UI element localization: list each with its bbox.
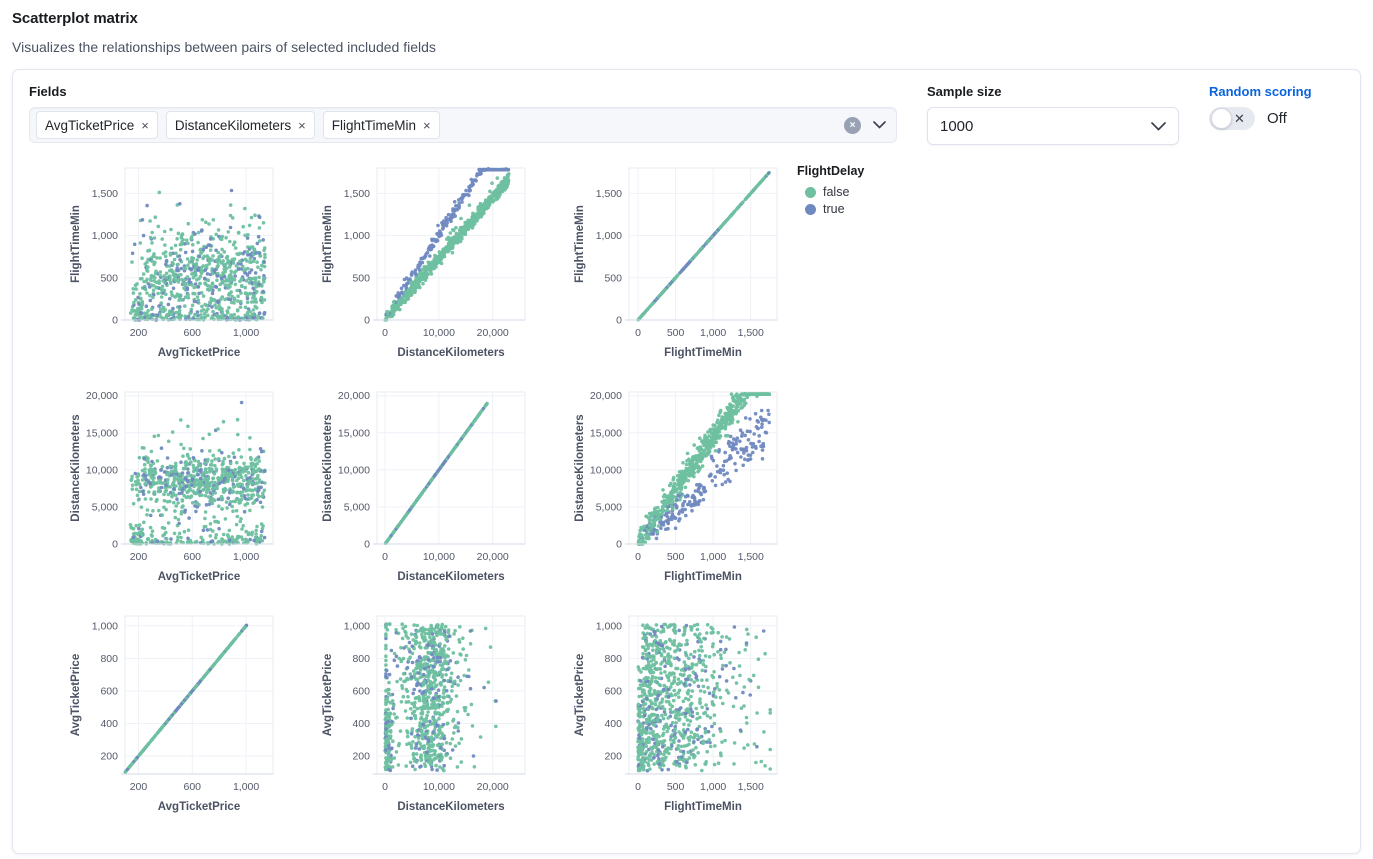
data-point [640,533,644,537]
data-point [427,266,431,270]
data-point [236,491,240,495]
data-point [137,498,141,502]
data-point [241,524,245,528]
data-point [255,306,259,310]
data-point [241,252,245,256]
data-point [761,444,765,448]
data-point [150,231,154,235]
data-point [186,275,190,279]
data-point [222,490,226,494]
data-point [141,218,145,222]
data-point [161,534,165,538]
clear-all-fields-icon[interactable]: × [844,117,861,134]
data-point [678,517,682,521]
data-point [154,215,158,219]
data-point [256,265,260,269]
data-point [732,443,736,447]
data-point [136,494,140,498]
data-point [712,444,716,448]
remove-field-icon[interactable]: × [141,119,149,132]
data-point [221,462,225,466]
data-point [135,488,139,492]
data-point [242,479,246,483]
data-point [454,226,458,230]
data-point [684,486,688,490]
data-point [436,239,440,243]
data-point [213,499,217,503]
data-point [203,517,207,521]
data-point [464,189,468,193]
data-point [189,460,193,464]
data-point [654,299,657,302]
data-point [403,278,407,282]
data-point [152,252,156,256]
data-point [197,460,201,464]
data-point [719,409,723,413]
data-point [758,182,761,185]
data-point [690,258,693,261]
data-point [698,250,701,253]
data-point [175,237,179,241]
data-point [252,294,256,298]
data-point [165,276,169,280]
data-point [254,487,258,491]
data-point [191,250,195,254]
data-point [134,472,138,476]
data-point [168,465,172,469]
data-point [198,481,202,485]
data-point [766,409,770,413]
data-point [205,503,209,507]
data-point [402,295,406,299]
data-point [149,464,153,468]
data-point [690,509,694,513]
data-point [767,392,771,396]
data-point [200,449,204,453]
x-tick-label: 20,000 [477,551,509,563]
data-point [248,509,252,513]
data-point [663,503,667,507]
x-tick-label: 20,000 [477,327,509,339]
data-point [149,514,153,518]
data-point [140,505,144,509]
data-point [387,538,390,541]
field-pill[interactable]: AvgTicketPrice × [36,111,158,139]
data-point [734,469,738,473]
data-point [140,301,144,305]
data-point [202,248,206,252]
data-point [251,287,255,291]
chevron-down-icon[interactable] [873,121,886,129]
data-point [226,316,230,320]
plot-frame [377,392,525,544]
data-point [714,449,718,453]
fields-combobox[interactable]: AvgTicketPrice × DistanceKilometers × Fl… [29,107,897,143]
remove-field-icon[interactable]: × [423,119,431,132]
data-point [195,258,199,262]
data-point [263,256,267,260]
scatter-cell-r2c2[interactable]: 05,00010,00015,00020,000010,00020,000Dis… [281,382,533,606]
data-point [255,498,259,502]
scatter-cell-r1c1[interactable]: 05001,0001,5002006001,000AvgTicketPriceF… [29,158,281,382]
data-point [179,418,183,422]
scatter-cell-r1c3[interactable]: 05001,0001,50005001,0001,500FlightTimeMi… [533,158,785,382]
y-tick-label: 0 [616,315,622,327]
data-point [451,251,455,255]
data-point [260,522,264,526]
data-point [240,476,244,480]
data-point [206,288,210,292]
data-point [750,191,753,194]
data-point [230,301,234,305]
data-point [453,447,456,450]
data-point [723,460,727,464]
data-point [484,404,487,407]
data-point [396,295,400,299]
data-point [242,487,246,491]
data-point [187,296,191,300]
data-point [699,484,703,488]
data-point [390,306,394,310]
data-point [236,433,240,437]
data-point [256,474,260,478]
data-point [402,517,405,520]
data-point [504,168,508,172]
data-point [183,509,187,513]
data-point [396,525,399,528]
data-point [132,502,136,506]
data-point [173,258,177,262]
data-point [246,465,250,469]
data-point [179,314,183,318]
y-tick-label: 20,000 [590,390,622,402]
field-pill-label: AvgTicketPrice [45,118,134,133]
data-point [722,464,726,468]
data-point [249,278,253,282]
scatter-cell-r2c1[interactable]: 05,00010,00015,00020,0002006001,000AvgTi… [29,382,281,606]
data-point [147,480,151,484]
data-point [190,483,194,487]
data-point [144,478,148,482]
data-point [163,289,167,293]
data-point [467,194,471,198]
data-point [184,267,188,271]
data-point [453,200,457,204]
data-point [204,483,208,487]
data-point [186,425,190,429]
data-point [181,238,185,242]
y-tick-label: 5,000 [92,501,118,513]
data-point [145,291,149,295]
data-point [212,454,216,458]
data-point [200,305,204,309]
data-point [199,477,203,481]
data-point [179,267,183,271]
data-point [251,312,255,316]
data-point [223,275,227,279]
sample-size-label: Sample size [927,84,1179,99]
data-point [145,513,149,517]
data-point [169,253,173,257]
data-point [154,271,158,275]
data-point [733,409,737,413]
data-point [143,482,147,486]
data-point [236,418,240,422]
random-scoring-toggle-row: ✕ Off [1209,107,1312,130]
y-axis-title: FlightTimeMin [574,205,586,283]
data-point [649,305,652,308]
data-point [684,514,688,518]
data-point [652,521,656,525]
data-point [177,232,181,236]
data-point [229,270,233,274]
data-point [714,484,718,488]
data-point [183,242,187,246]
data-point [484,168,488,172]
data-point [235,509,239,513]
y-tick-label: 10,000 [86,464,118,476]
data-point [169,537,173,541]
data-point [214,233,218,237]
data-point [202,488,206,492]
data-point [649,532,653,536]
data-point [260,296,264,300]
data-point [664,519,668,523]
sample-size-select[interactable]: 1000 [927,107,1179,145]
remove-field-icon[interactable]: × [298,119,306,132]
data-point [247,531,251,535]
data-point [194,272,198,276]
data-point [163,470,167,474]
data-point [254,271,258,275]
data-point [167,521,171,525]
data-point [681,504,685,508]
data-point [638,317,641,320]
data-point [185,238,189,242]
data-point [169,228,173,232]
data-point [158,256,162,260]
data-point [202,294,206,298]
data-point [761,178,764,181]
data-point [686,469,690,473]
data-point [254,477,258,481]
data-point [442,219,446,223]
data-point [258,226,262,230]
data-point [763,392,767,396]
data-point [760,422,764,426]
data-point [686,473,690,477]
data-point [669,482,673,486]
data-point [213,268,217,272]
data-point [151,296,155,300]
data-point [166,478,170,482]
data-point [236,515,240,519]
data-point [220,248,224,252]
random-scoring-switch[interactable]: ✕ [1209,107,1255,130]
data-point [733,462,737,466]
data-point [262,280,266,284]
data-point [188,474,192,478]
scatter-cell-r2c3[interactable]: 05,00010,00015,00020,00005001,0001,500Fl… [533,382,785,606]
data-point [204,470,208,474]
data-point [227,455,231,459]
data-point [192,470,196,474]
random-scoring-state: Off [1267,110,1287,127]
data-point [171,430,175,434]
data-point [451,228,455,232]
data-point [158,191,162,195]
data-point [761,448,765,452]
data-point [138,490,142,494]
data-point [229,273,233,277]
data-point [231,509,235,513]
data-point [674,526,678,530]
data-point [390,534,393,537]
data-point [197,299,201,303]
data-point [691,462,695,466]
data-point [743,458,747,462]
data-point [225,506,229,510]
data-point [234,269,238,273]
data-point [196,473,200,477]
data-point [184,461,188,465]
data-point [741,392,745,396]
data-point [743,434,747,438]
data-point [142,473,146,477]
data-point [721,417,725,421]
data-point [414,268,418,272]
data-point [402,284,406,288]
data-point [217,504,221,508]
field-pill[interactable]: FlightTimeMin × [323,111,440,139]
data-point [231,479,235,483]
data-point [160,513,164,517]
data-point [724,480,728,484]
data-point [238,260,242,264]
data-point [139,241,143,245]
data-point [159,476,163,480]
scatterplot-panel: Fields AvgTicketPrice × DistanceKilomete… [12,69,1361,854]
data-point [240,494,244,498]
data-point [678,271,681,274]
data-point [164,293,168,297]
data-point [228,529,232,533]
data-point [206,314,210,318]
data-point [261,492,265,496]
data-point [707,442,711,446]
data-point [204,220,208,224]
data-point [135,483,139,487]
data-point [667,284,670,287]
data-point [185,496,189,500]
switch-off-icon: ✕ [1234,112,1245,125]
data-point [229,226,233,230]
data-point [248,271,252,275]
data-point [728,407,732,411]
scatter-cell-r3c1[interactable]: 2004006008001,0002006001,000AvgTicketPri… [29,606,281,836]
chevron-down-icon[interactable] [1151,122,1164,130]
data-point [211,539,215,543]
data-point [720,426,724,430]
data-point [259,501,263,505]
data-point [728,480,732,484]
data-point [155,313,159,317]
data-point [459,231,463,235]
data-point [167,303,171,307]
data-point [479,410,482,413]
data-point [470,184,474,188]
data-point [161,526,165,530]
data-point [163,230,167,234]
data-point [687,479,691,483]
data-point [150,460,154,464]
data-point [261,290,265,294]
data-point [192,456,196,460]
data-point [173,532,177,536]
data-point [209,491,213,495]
data-point [257,235,261,239]
field-pill[interactable]: DistanceKilometers × [166,111,315,139]
data-point [184,318,188,322]
y-tick-label: 1,500 [92,188,118,200]
data-point [181,504,185,508]
data-point [226,259,230,263]
data-point [186,540,190,544]
data-point [460,200,464,204]
data-point [204,494,208,498]
data-point [224,236,228,240]
data-point [657,513,661,517]
data-point [250,216,254,220]
data-point [221,280,225,284]
data-point [204,268,208,272]
data-point [463,433,466,436]
data-point [215,467,219,471]
data-point [418,286,422,290]
data-point [476,208,480,212]
data-point [208,449,212,453]
data-point [199,252,203,256]
data-point [233,240,237,244]
data-point [186,257,190,261]
data-point [221,480,225,484]
data-point [678,510,682,514]
data-point [417,263,421,267]
data-point [213,520,217,524]
data-point [217,318,221,322]
data-point [196,295,200,299]
data-point [755,425,759,429]
data-point [261,505,265,509]
data-point [386,312,390,316]
data-point [149,236,153,240]
y-axis-title: FlightTimeMin [70,205,82,283]
scatter-cell-r1c2[interactable]: 05001,0001,500010,00020,000DistanceKilom… [281,158,533,382]
data-point [493,168,497,172]
x-tick-label: 10,000 [423,327,455,339]
data-point [698,499,702,503]
data-point [444,460,447,463]
data-point [160,446,164,450]
data-point [137,474,141,478]
data-point [465,224,469,228]
data-point [193,480,197,484]
data-point [216,264,220,268]
data-point [229,214,233,218]
data-point [130,478,134,482]
data-point [225,266,229,270]
x-tick-label: 1,000 [700,551,726,563]
